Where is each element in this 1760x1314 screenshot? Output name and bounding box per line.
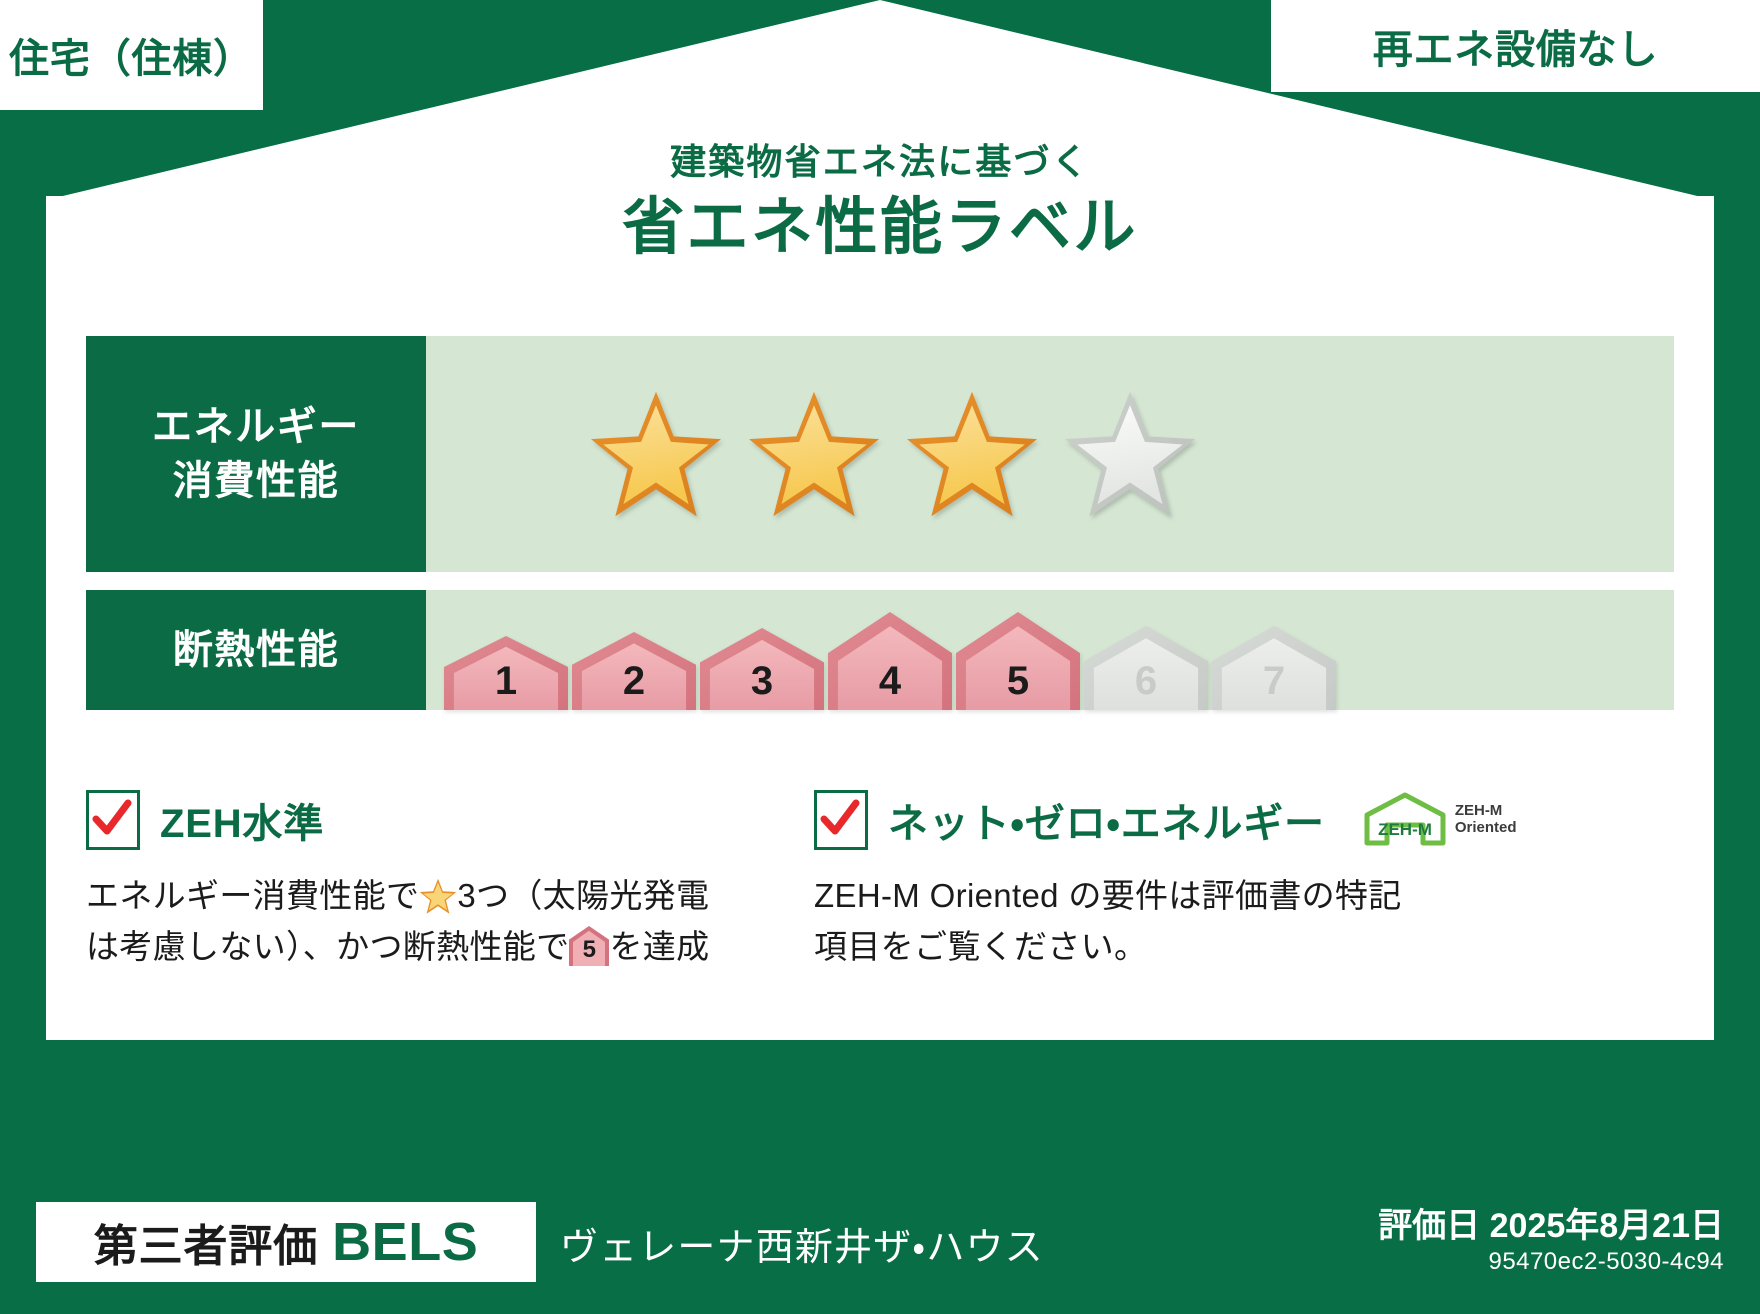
bels-badge: 第三者評価 BELS [36, 1202, 536, 1282]
zeh-net-zero-section: ネット・ゼロ・エネルギー ZEH-M ZEH-M Oriented ZEH-M … [814, 790, 1574, 972]
zeh-standard-desc-part3: を達成 [609, 928, 709, 965]
label-title-block: 建築物省エネ法に基づく 省エネ性能ラベル [0, 140, 1760, 267]
star-icon-empty-4 [1062, 389, 1198, 519]
house-grade-4-number: 4 [828, 659, 952, 704]
badge-renewable-energy-label: 再エネ設備なし [1373, 17, 1659, 75]
star-rating [426, 389, 1198, 519]
evaluation-id: 95470ec2-5030-4c94 [1489, 1248, 1725, 1276]
zeh-net-zero-desc-line2: 項目をご覧ください。 [814, 928, 1147, 965]
zeh-standard-header: ZEH水準 [86, 790, 786, 850]
zeh-m-house-icon: ZEH-M [1359, 791, 1451, 849]
evaluation-date: 評価日 2025年8月21日 [1378, 1198, 1724, 1247]
badge-building-type: 住宅（住棟） [0, 0, 263, 110]
zeh-standard-section: ZEH水準 エネルギー消費性能で3つ（太陽光発電 は考慮しない）、かつ断熱性能で… [86, 790, 786, 972]
house-icon-grade-2: 2 [572, 632, 696, 710]
house-icon-grade-4: 4 [828, 612, 952, 710]
zeh-m-logo-text: ZEH-M [1378, 820, 1432, 839]
row-energy-body [426, 336, 1674, 572]
label-footer: 第三者評価 BELS ヴェレーナ西新井ザ・ハウス 評価日 2025年8月21日 … [0, 1184, 1760, 1314]
star-icon-filled-2 [746, 389, 882, 519]
house-grade-3-number: 3 [700, 659, 824, 704]
inline-star-icon [419, 877, 457, 913]
house-grade-7-number: 7 [1212, 659, 1336, 704]
house-icon-grade-7: 7 [1212, 626, 1336, 710]
row-energy-performance: エネルギー 消費性能 [86, 336, 1674, 572]
inline-house-icon: 5 [569, 926, 609, 968]
house-icon-grade-1: 1 [444, 636, 568, 710]
badge-renewable-energy: 再エネ設備なし [1271, 0, 1760, 92]
zeh-m-logo-sub1: ZEH-M [1455, 803, 1517, 820]
row-insulation-performance: 断熱性能 [86, 590, 1674, 710]
house-grade-1-number: 1 [444, 659, 568, 704]
house-grade-6-number: 6 [1084, 659, 1208, 704]
zeh-standard-title: ZEH水準 [160, 791, 324, 849]
zeh-net-zero-title: ネット・ゼロ・エネルギー [888, 791, 1325, 849]
house-grade-2-number: 2 [572, 659, 696, 704]
zeh-net-zero-desc-line1: ZEH-M Oriented の要件は評価書の特記 [814, 877, 1402, 914]
check-icon [91, 797, 133, 841]
inline-house-grade: 5 [569, 931, 609, 968]
row-insulation-label-text: 断熱性能 [173, 623, 339, 677]
house-icon-grade-5: 5 [956, 612, 1080, 710]
bels-energy-label: 住宅（住棟） 再エネ設備なし 建築物省エネ法に基づく 省エネ性能ラベル エネルギ… [0, 0, 1760, 1314]
house-icon-grade-6: 6 [1084, 626, 1208, 710]
zeh-standard-description: エネルギー消費性能で3つ（太陽光発電 は考慮しない）、かつ断熱性能で5を達成 [86, 870, 786, 972]
zeh-net-zero-description: ZEH-M Oriented の要件は評価書の特記 項目をご覧ください。 [814, 870, 1574, 972]
checkbox-zeh-net-zero[interactable] [814, 790, 868, 850]
building-name: ヴェレーナ西新井ザ・ハウス [560, 1216, 1044, 1271]
zeh-m-oriented-logo: ZEH-M ZEH-M Oriented [1359, 791, 1517, 849]
check-icon [819, 797, 861, 841]
bels-badge-jp: 第三者評価 [94, 1210, 318, 1274]
row-energy-label-line1: エネルギー [152, 400, 360, 454]
zeh-standard-desc-stars: 3つ（太陽光発電 [457, 877, 709, 914]
row-insulation-label: 断熱性能 [86, 590, 426, 710]
badge-building-type-label: 住宅（住棟） [9, 26, 254, 84]
house-grade-5-number: 5 [956, 659, 1080, 704]
house-icon-grade-3: 3 [700, 628, 824, 710]
row-energy-label: エネルギー 消費性能 [86, 336, 426, 572]
zeh-sections: ZEH水準 エネルギー消費性能で3つ（太陽光発電 は考慮しない）、かつ断熱性能で… [86, 790, 1686, 972]
row-insulation-body: 1 2 3 [426, 590, 1674, 710]
insulation-grade-scale: 1 2 3 [426, 590, 1336, 710]
zeh-standard-desc-part1: エネルギー消費性能で [86, 877, 419, 914]
zeh-m-logo-sub2: Oriented [1455, 820, 1517, 837]
checkbox-zeh-standard[interactable] [86, 790, 140, 850]
bels-badge-en: BELS [332, 1211, 478, 1273]
star-icon-filled-3 [904, 389, 1040, 519]
star-icon-filled-1 [588, 389, 724, 519]
title-main: 省エネ性能ラベル [0, 189, 1760, 267]
zeh-standard-desc-part2: は考慮しない）、かつ断熱性能で [86, 928, 569, 965]
zeh-net-zero-header: ネット・ゼロ・エネルギー ZEH-M ZEH-M Oriented [814, 790, 1574, 850]
rating-rows: エネルギー 消費性能 [86, 336, 1674, 728]
title-subtitle: 建築物省エネ法に基づく [0, 140, 1760, 183]
row-energy-label-line2: 消費性能 [173, 454, 339, 508]
